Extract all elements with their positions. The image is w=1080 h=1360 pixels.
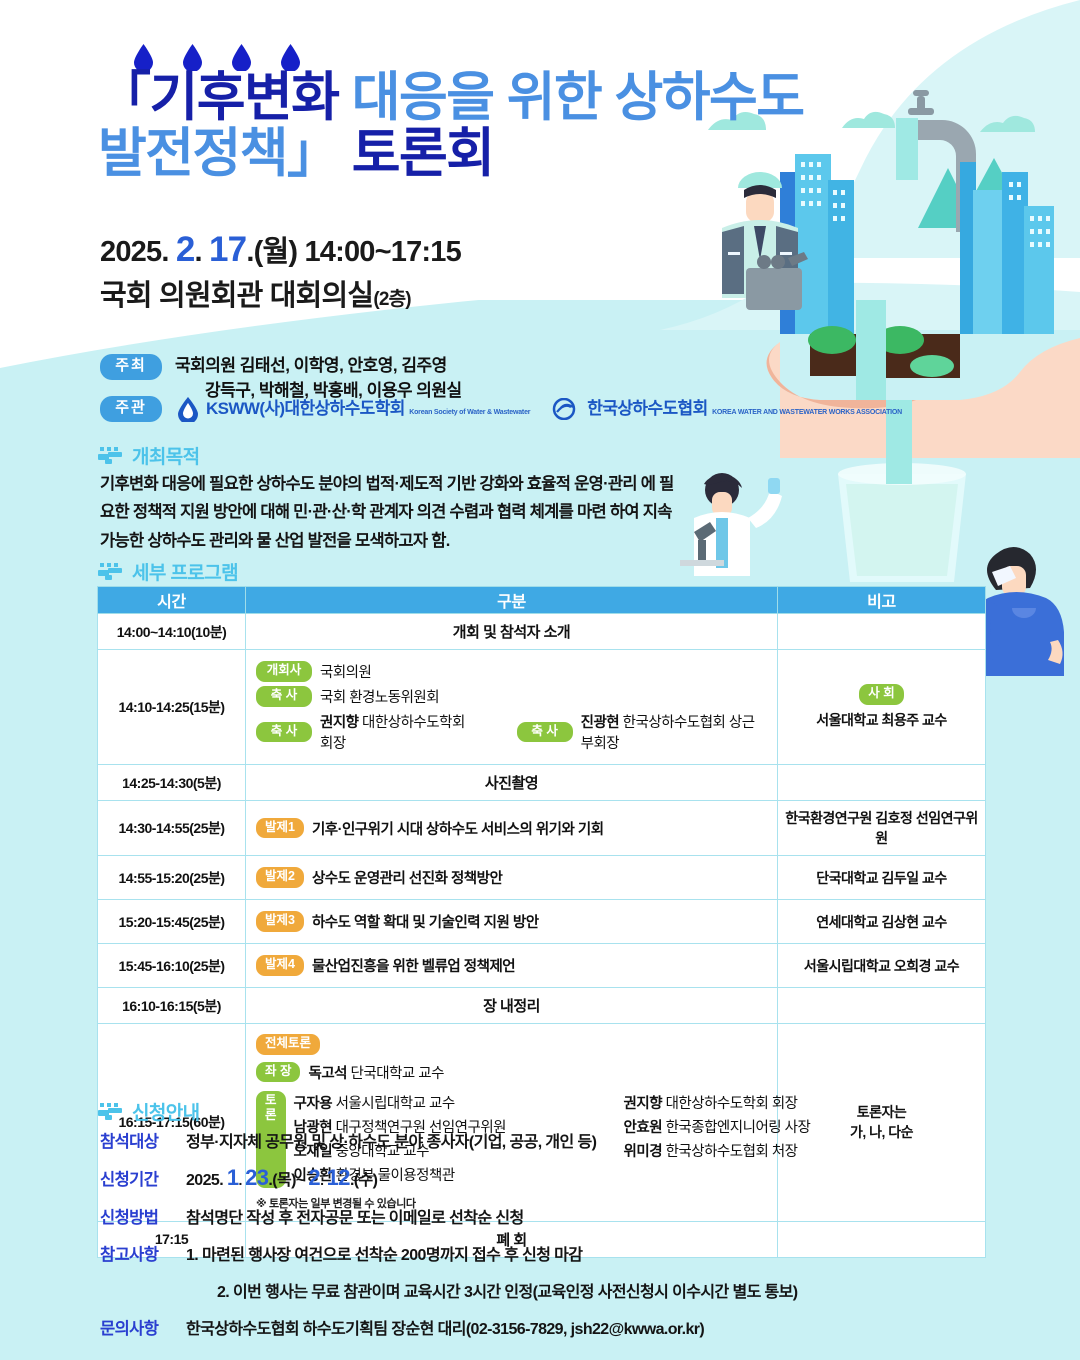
badge-moderator: 사 회 (859, 684, 903, 705)
section-title-purpose: 개최목적 (132, 442, 200, 469)
event-datetime: 2025. 2. 17.(월) 14:00~17:15 (100, 228, 461, 270)
title-line-2: 발전정책」 토론회 (98, 126, 804, 182)
cell-note: 한국환경연구원 김호정 선임연구위원 (778, 801, 986, 856)
date-month: 2 (176, 230, 195, 269)
title-forum: 토론회 (339, 124, 494, 183)
event-venue: 국회 의원회관 대회의실(2층) (100, 272, 411, 314)
table-row: 14:30-14:55(25분) 발제1 기후·인구위기 시대 상하수도 서비스… (98, 801, 986, 856)
apply-contact-value: 한국상하수도협회 하수도기획팀 장순현 대리(02-3156-7829, jsh… (186, 1315, 704, 1339)
title-policy: 발전정책 (98, 124, 287, 183)
cell-main: 개회사 국회의원 축 사 국회 환경노동위원회 축 사 권지향 대한상하수도학회… (246, 650, 778, 765)
table-row: 14:00~14:10(10분) 개회 및 참석자 소개 (98, 614, 986, 650)
cell-time: 16:10-16:15(5분) (98, 988, 246, 1024)
panelist: 구자용 서울시립대학교 교수 (294, 1092, 624, 1113)
date-time-range: .(월) 14:00~17:15 (246, 236, 461, 268)
cell-note (778, 765, 986, 801)
presentation-title: 기후·인구위기 시대 상하수도 서비스의 위기와 기회 (312, 818, 604, 839)
chair-row: 좌 장 독고석 단국대학교 교수 (256, 1062, 767, 1083)
badge-presentation: 발제3 (256, 911, 304, 932)
purpose-body: 기후변화 대응에 필요한 상하수도 분야의 법적·제도적 기반 강화와 효율적 … (100, 470, 680, 555)
badge-chair: 좌 장 (256, 1062, 300, 1083)
speaker-name: 진광현 (581, 715, 620, 731)
title-line-1: 「기후변화 대응을 위한 상하수도 (98, 70, 804, 126)
table-row: 16:10-16:15(5분) 장 내정리 (98, 988, 986, 1024)
cell-main: 발제4 물산업진흥을 위한 벨류업 정책제언 (246, 944, 778, 988)
period-suffix: .(수) (350, 1172, 377, 1189)
kwwa-swirl-icon (552, 398, 582, 420)
poster-root: 「기후변화 대응을 위한 상하수도 발전정책」 토론회 2025. 2. 17.… (0, 0, 1080, 1360)
apply-contact-row: 문의사항 한국상하수도협회 하수도기획팀 장순현 대리(02-3156-7829… (100, 1315, 860, 1339)
organizer-section: 주관 KSWW(사)대한상하수도학회 Korean Society of Wat… (100, 396, 902, 422)
logo-kwwa-korean: 한국상하수도협회 (587, 399, 707, 418)
presentation-title: 하수도 역할 확대 및 기술인력 지원 방안 (312, 911, 539, 932)
apply-period-value: 2025. 1. 23.(목)~ 2. 12.(수) (186, 1165, 377, 1191)
faucet-icon (98, 1103, 124, 1121)
table-header-row: 시간 구분 비고 (98, 587, 986, 614)
section-title-apply: 신청안내 (132, 1098, 200, 1125)
organizer-logos: KSWW(사)대한상하수도학회 Korean Society of Water … (175, 396, 902, 422)
title-bracket-open: 「 (98, 68, 150, 127)
logo-kwwa-text: 한국상하수도협회 KOREA WATER AND WASTEWATER WORK… (587, 400, 902, 418)
badge-presentation: 발제2 (256, 867, 304, 888)
date-separator: . (195, 236, 210, 268)
apply-method-label: 신청방법 (100, 1204, 186, 1228)
water-drop-icon (183, 44, 202, 71)
panelist-affiliation: 대한상하수도학회 회장 (662, 1096, 797, 1112)
faucet-icon (98, 447, 124, 465)
poster-title: 「기후변화 대응을 위한 상하수도 발전정책」 토론회 (98, 70, 804, 182)
badge-opening-speech: 개회사 (256, 661, 312, 682)
apply-period-label: 신청기간 (100, 1166, 186, 1190)
logo-kwwa-english: KOREA WATER AND WASTEWATER WORKS ASSOCIA… (712, 409, 902, 416)
line-text: 국회의원 (320, 661, 371, 682)
logo-ksww-name: KSWW(사)대한상하수도학회 (206, 399, 405, 418)
host-label-pill: 주최 (100, 354, 162, 380)
water-drop-icon (281, 44, 300, 71)
program-line: 발제3 하수도 역할 확대 및 기술인력 지원 방안 (256, 911, 767, 932)
water-drop-icon (232, 44, 251, 71)
water-drop-icon (134, 44, 153, 71)
date-day: 17 (209, 230, 246, 269)
apply-method-value: 참석명단 작성 후 전자공문 또는 이메일로 선착순 신청 (186, 1204, 524, 1228)
chair-name: 독고석 (308, 1066, 347, 1082)
apply-info-section: 참석대상 정부·지자체 공무원 및 상·하수도 분야 종사자(기업, 공공, 개… (100, 1128, 860, 1352)
host-names-line1: 국회의원 김태선, 이학영, 안호영, 김주영 (175, 356, 447, 375)
apply-contact-label: 문의사항 (100, 1315, 186, 1339)
title-rest-1: 대응을 위한 상하수도 (339, 68, 804, 127)
presentation-title: 상수도 운영관리 선진화 정책방안 (312, 867, 502, 888)
section-header-program: 세부 프로그램 (98, 558, 238, 585)
cell-main: 발제2 상수도 운영관리 선진화 정책방안 (246, 856, 778, 900)
speaker-name: 권지향 (320, 715, 359, 731)
cell-note: 연세대학교 김상현 교수 (778, 900, 986, 944)
line-text: 국회 환경노동위원회 (320, 686, 439, 707)
period-year: 2025. (186, 1172, 227, 1189)
panelist: 권지향 대한상하수도학회 회장 (624, 1092, 864, 1113)
purpose-line-1: 기후변화 대응에 필요한 상하수도 분야의 법적·제도적 기반 강화와 효율적 … (100, 475, 637, 493)
apply-period-row: 신청기간 2025. 1. 23.(목)~ 2. 12.(수) (100, 1165, 860, 1191)
cell-main: 개회 및 참석자 소개 (246, 614, 778, 650)
cell-main: 사진촬영 (246, 765, 778, 801)
cell-time: 15:20-15:45(25분) (98, 900, 246, 944)
title-bracket-close: 」 (287, 124, 339, 183)
apply-method-row: 신청방법 참석명단 작성 후 전자공문 또는 이메일로 선착순 신청 (100, 1204, 860, 1228)
panelist-name: 권지향 (624, 1096, 663, 1112)
section-header-apply: 신청안내 (98, 1098, 200, 1125)
cell-note: 서울시립대학교 오희경 교수 (778, 944, 986, 988)
apply-note-1: 1. 마련된 행사장 여건으로 선착순 200명까지 접수 후 신청 마감 (186, 1241, 582, 1265)
cell-time: 14:30-14:55(25분) (98, 801, 246, 856)
badge-congrat-speech: 축 사 (256, 722, 312, 743)
period-end-month: 2 (308, 1165, 320, 1190)
apply-note-2: 2. 이번 행사는 무료 참관이며 교육시간 3시간 인정(교육인정 사전신청시… (217, 1278, 860, 1302)
cell-note (778, 614, 986, 650)
program-line: 축 사 권지향 대한상하수도학회 회장 축 사 진광현 한국상하수도협회 상근부… (256, 711, 767, 753)
badge-presentation: 발제1 (256, 818, 304, 839)
moderator-name: 서울대학교 최용주 교수 (782, 710, 981, 730)
cell-note (778, 988, 986, 1024)
line-text: 권지향 대한상하수도학회 회장 (320, 711, 473, 753)
logo-kwwa: 한국상하수도협회 KOREA WATER AND WASTEWATER WORK… (552, 398, 902, 420)
cell-time: 14:10-14:25(15분) (98, 650, 246, 765)
line-text: 진광현 한국상하수도협회 상근부회장 (581, 711, 767, 753)
col-header-note: 비고 (778, 587, 986, 614)
badge-congrat-speech: 축 사 (517, 722, 573, 743)
period-end-day: 12 (327, 1165, 350, 1190)
table-row: 15:45-16:10(25분) 발제4 물산업진흥을 위한 벨류업 정책제언 … (98, 944, 986, 988)
chair-text: 독고석 단국대학교 교수 (308, 1062, 443, 1083)
apply-target-label: 참석대상 (100, 1128, 186, 1152)
section-title-program: 세부 프로그램 (132, 558, 238, 585)
table-row: 15:20-15:45(25분) 발제3 하수도 역할 확대 및 기술인력 지원… (98, 900, 986, 944)
col-header-type: 구분 (246, 587, 778, 614)
cell-time: 14:00~14:10(10분) (98, 614, 246, 650)
date-year: 2025. (100, 236, 176, 268)
cell-note: 사 회 서울대학교 최용주 교수 (778, 650, 986, 765)
logo-ksww-text: KSWW(사)대한상하수도학회 Korean Society of Water … (206, 400, 530, 418)
chair-affiliation: 단국대학교 교수 (347, 1066, 444, 1082)
panelist-name: 구자용 (294, 1096, 333, 1112)
badge-full-discussion: 전체토론 (256, 1034, 320, 1055)
logo-ksww-korean: (사)대한상하수도학회 (259, 399, 404, 418)
cell-time: 15:45-16:10(25분) (98, 944, 246, 988)
section-header-purpose: 개최목적 (98, 442, 200, 469)
period-start-month: 1 (227, 1165, 239, 1190)
badge-presentation: 발제4 (256, 955, 304, 976)
apply-notes-label: 참고사항 (100, 1241, 186, 1265)
cell-main: 장 내정리 (246, 988, 778, 1024)
logo-ksww-english: Korean Society of Water & Wastewater (409, 409, 530, 416)
faucet-icon (98, 563, 124, 581)
apply-target-value: 정부·지자체 공무원 및 상·하수도 분야 종사자(기업, 공공, 개인 등) (186, 1128, 596, 1152)
venue-floor: (2층) (373, 289, 411, 310)
panelist-affiliation: 서울시립대학교 교수 (332, 1096, 455, 1112)
program-line: 발제4 물산업진흥을 위한 벨류업 정책제언 (256, 955, 767, 976)
period-start-day: 23 (245, 1165, 268, 1190)
cell-time: 14:55-15:20(25분) (98, 856, 246, 900)
water-drop-decoration (134, 44, 300, 71)
apply-target-row: 참석대상 정부·지자체 공무원 및 상·하수도 분야 종사자(기업, 공공, 개… (100, 1128, 860, 1152)
organizer-label-pill: 주관 (100, 396, 162, 422)
cell-main: 발제3 하수도 역할 확대 및 기술인력 지원 방안 (246, 900, 778, 944)
logo-ksww: KSWW(사)대한상하수도학회 Korean Society of Water … (175, 396, 530, 422)
cell-time: 14:25-14:30(5분) (98, 765, 246, 801)
venue-name: 국회 의원회관 대회의실 (100, 280, 373, 312)
program-line: 개회사 국회의원 (256, 661, 767, 682)
program-line: 발제2 상수도 운영관리 선진화 정책방안 (256, 867, 767, 888)
program-line: 축 사 국회 환경노동위원회 (256, 686, 767, 707)
table-row: 14:10-14:25(15분) 개회사 국회의원 축 사 국회 환경노동위원회… (98, 650, 986, 765)
presentation-title: 물산업진흥을 위한 벨류업 정책제언 (312, 955, 515, 976)
logo-ksww-abbr: KSWW (206, 399, 259, 418)
period-middle: .(목)~ (268, 1172, 308, 1189)
badge-congrat-speech: 축 사 (256, 686, 312, 707)
table-row: 14:55-15:20(25분) 발제2 상수도 운영관리 선진화 정책방안 단… (98, 856, 986, 900)
water-drop-logo-icon (175, 396, 201, 422)
panel-badge-row: 전체토론 (256, 1034, 767, 1055)
title-keyword: 기후변화 (150, 68, 339, 127)
apply-notes-row: 참고사항 1. 마련된 행사장 여건으로 선착순 200명까지 접수 후 신청 … (100, 1241, 860, 1265)
cell-note: 단국대학교 김두일 교수 (778, 856, 986, 900)
cell-main: 발제1 기후·인구위기 시대 상하수도 서비스의 위기와 기회 (246, 801, 778, 856)
table-row: 14:25-14:30(5분) 사진촬영 (98, 765, 986, 801)
program-line: 발제1 기후·인구위기 시대 상하수도 서비스의 위기와 기회 (256, 818, 767, 839)
col-header-time: 시간 (98, 587, 246, 614)
